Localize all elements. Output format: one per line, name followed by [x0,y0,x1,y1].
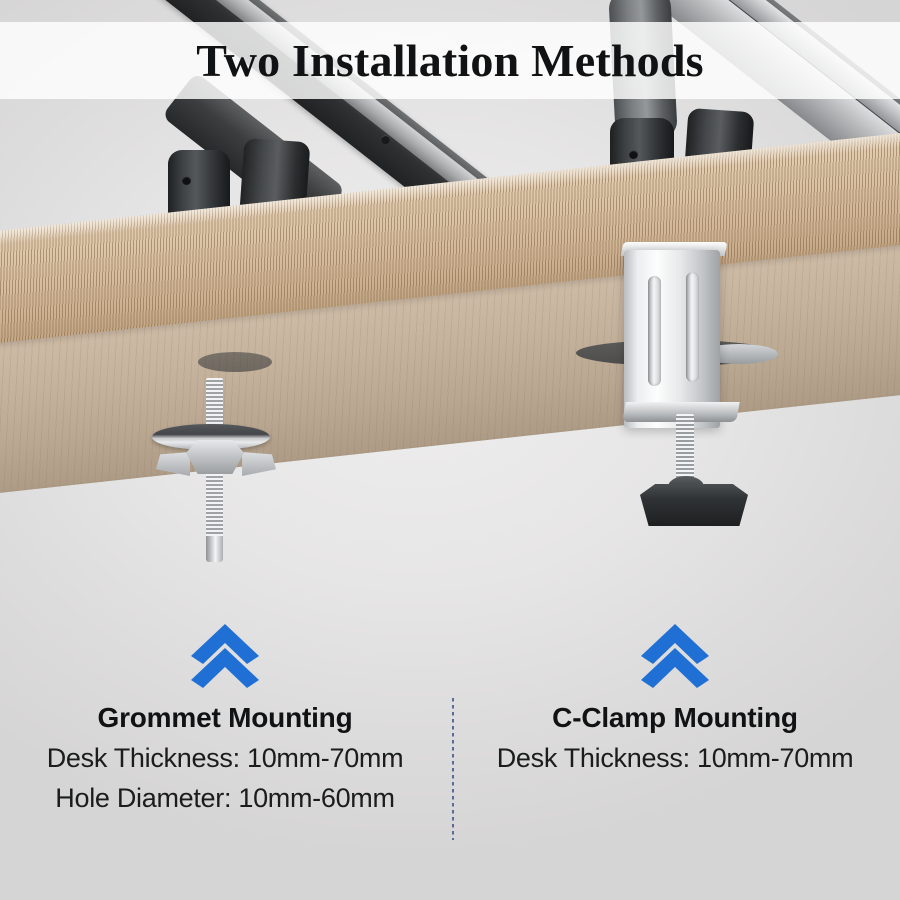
grommet-desk-thickness: Desk Thickness: 10mm-70mm [47,743,404,774]
clamp-slot [648,276,661,386]
right-post-hole-icon [629,150,638,159]
c-clamp-mounting-title: C-Clamp Mounting [552,702,798,734]
grommet-hole [198,352,272,372]
grommet-rod-tip [206,536,223,562]
clamp-slot [686,272,699,382]
desk-board [0,232,900,492]
grommet-hole-diameter: Hole Diameter: 10mm-60mm [55,783,394,814]
column-divider [452,698,454,840]
c-clamp-mounting-column: C-Clamp Mounting Desk Thickness: 10mm-70… [450,600,900,900]
grommet-mounting-title: Grommet Mounting [98,702,353,734]
mounting-methods-section: Grommet Mounting Desk Thickness: 10mm-70… [0,600,900,900]
infographic-canvas: Two Installation Methods Grommet Mountin… [0,0,900,900]
left-post-hole-icon [182,176,191,185]
page-title: Two Installation Methods [0,22,900,99]
double-chevron-up-icon [639,622,711,688]
left-arm-screw-hole-icon [381,135,390,144]
double-chevron-up-icon [189,622,261,688]
clamp-tightening-knob [640,484,748,526]
c-clamp-desk-thickness: Desk Thickness: 10mm-70mm [497,743,854,774]
grommet-mounting-column: Grommet Mounting Desk Thickness: 10mm-70… [0,600,450,900]
